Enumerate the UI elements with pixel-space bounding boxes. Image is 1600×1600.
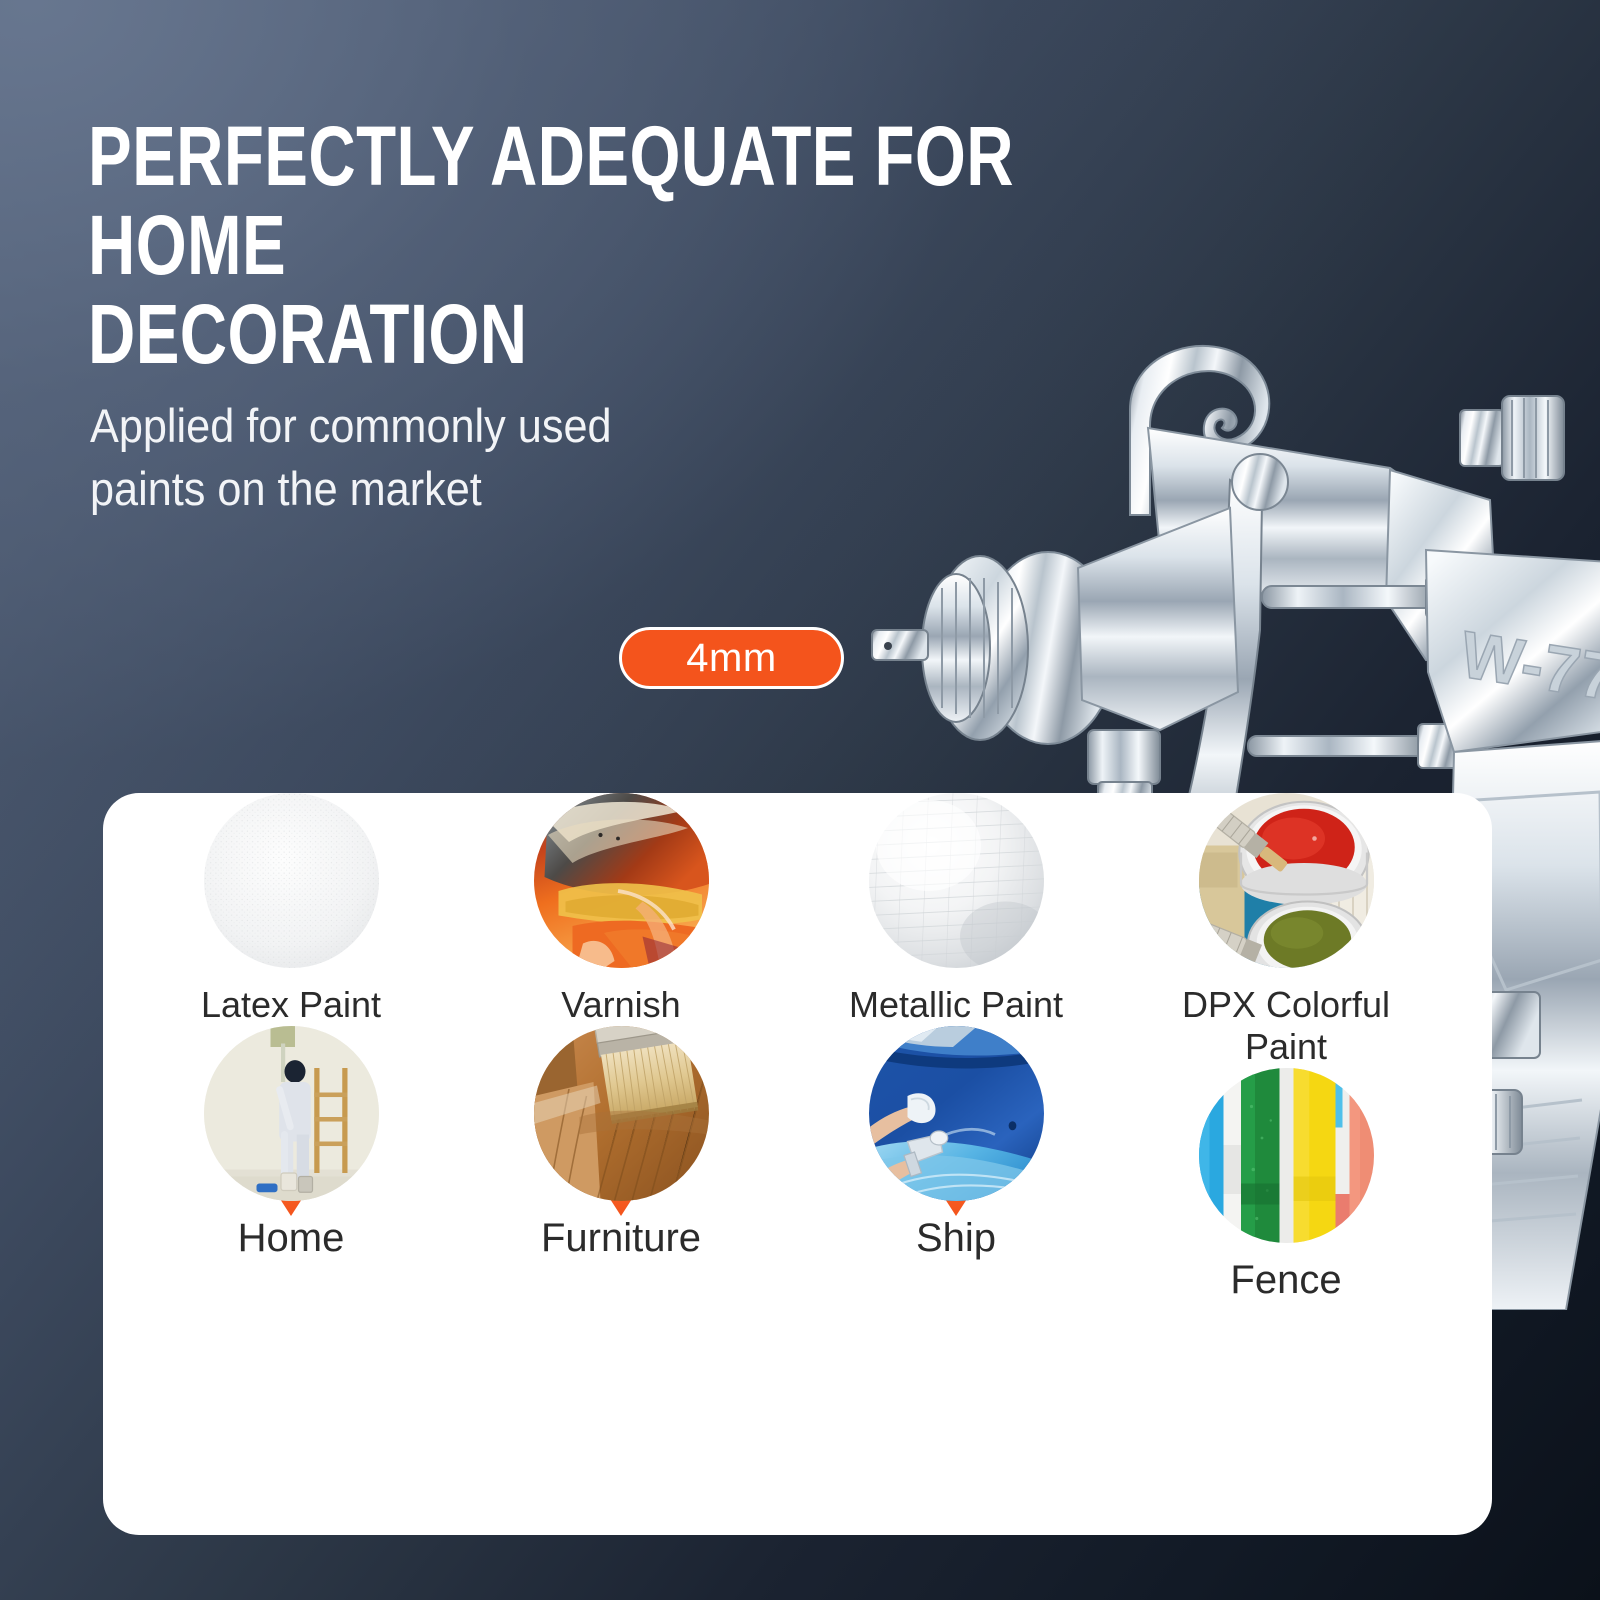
nozzle-size-badge: 4mm: [619, 627, 844, 689]
application-label-1: Furniture: [491, 1215, 751, 1261]
paint-type-label-3: DPX Colorful Paint: [1156, 984, 1416, 1068]
latex-paint-thumbnail: [204, 793, 379, 968]
metallic-paint-thumbnail: [869, 793, 1044, 968]
application-column-3: DPX Colorful Paint: [1156, 793, 1416, 1303]
application-column-0: Latex Paint: [161, 793, 421, 1261]
application-label-3: Fence: [1156, 1257, 1416, 1303]
ship-thumbnail: [869, 1026, 1044, 1201]
home-thumbnail: [204, 1026, 379, 1201]
paint-type-0: Latex Paint: [161, 793, 421, 1026]
paint-type-2: Metallic Paint: [826, 793, 1086, 1026]
varnish-thumbnail: [534, 793, 709, 968]
applications-grid: Latex Paint: [103, 793, 1492, 1535]
application-label-2: Ship: [826, 1215, 1086, 1261]
page-subtitle: Applied for commonly used paints on the …: [90, 395, 789, 520]
application-label-0: Home: [161, 1215, 421, 1261]
nozzle-size-label: 4mm: [686, 636, 776, 681]
paint-type-label-2: Metallic Paint: [826, 984, 1086, 1026]
applications-card: Latex Paint: [103, 793, 1492, 1535]
application-column-1: Varnish: [491, 793, 751, 1261]
fence-thumbnail: [1199, 1068, 1374, 1243]
paint-type-label-0: Latex Paint: [161, 984, 421, 1026]
application-column-2: Metallic Paint: [826, 793, 1086, 1261]
promo-banner: PERFECTLY ADEQUATE FOR HOME DECORATION A…: [0, 0, 1600, 1600]
furniture-thumbnail: [534, 1026, 709, 1201]
paint-type-1: Varnish: [491, 793, 751, 1026]
paint-type-label-1: Varnish: [491, 984, 751, 1026]
paint-type-3: DPX Colorful Paint: [1156, 793, 1416, 1068]
dpx-colorful-paint-thumbnail: [1199, 793, 1374, 968]
